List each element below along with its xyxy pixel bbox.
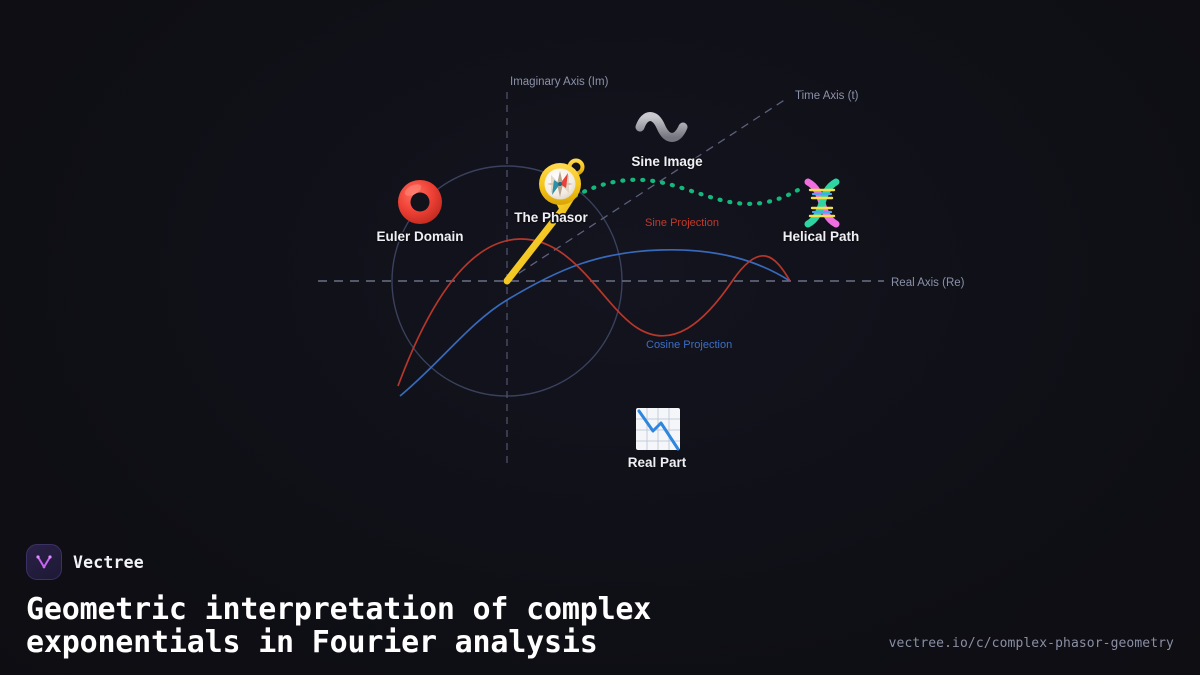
wave-icon	[640, 117, 683, 138]
node-sine-image[interactable]: Sine Image	[631, 117, 703, 170]
node-label: The Phasor	[514, 210, 588, 225]
sine-projection-label: Sine Projection	[645, 217, 719, 229]
real-axis-label: Real Axis (Re)	[891, 277, 965, 289]
chart-down-icon	[636, 408, 680, 450]
imaginary-axis-label: Imaginary Axis (Im)	[510, 76, 609, 88]
node-helical-path[interactable]: Helical Path	[783, 182, 860, 244]
node-euler-domain[interactable]: Euler Domain	[376, 180, 463, 244]
node-label: Real Part	[628, 455, 687, 470]
torus-icon	[398, 180, 442, 224]
dna-icon	[808, 182, 836, 224]
node-the-phasor[interactable]: The Phasor	[514, 161, 588, 226]
helix-trace-curve	[575, 180, 800, 204]
diagram-canvas: Imaginary Axis (Im) Real Axis (Re) Time …	[0, 0, 1200, 520]
footer: Vectree Geometric interpretation of comp…	[0, 520, 1200, 675]
source-url: vectree.io/c/complex-phasor-geometry	[889, 636, 1174, 651]
brand-row: Vectree	[26, 544, 1174, 580]
poster-root: Imaginary Axis (Im) Real Axis (Re) Time …	[0, 0, 1200, 675]
compass-icon	[539, 161, 583, 206]
cosine-projection-label: Cosine Projection	[646, 339, 732, 351]
sine-projection-curve	[398, 239, 790, 386]
cosine-projection-curve	[400, 250, 790, 396]
node-label: Euler Domain	[376, 229, 463, 244]
node-label: Sine Image	[631, 154, 703, 169]
vectree-logo-icon	[26, 544, 62, 580]
node-real-part[interactable]: Real Part	[628, 408, 687, 470]
headline: Geometric interpretation of complex expo…	[26, 594, 846, 659]
time-axis-label: Time Axis (t)	[795, 90, 859, 102]
node-label: Helical Path	[783, 229, 860, 244]
brand-name: Vectree	[73, 553, 144, 572]
